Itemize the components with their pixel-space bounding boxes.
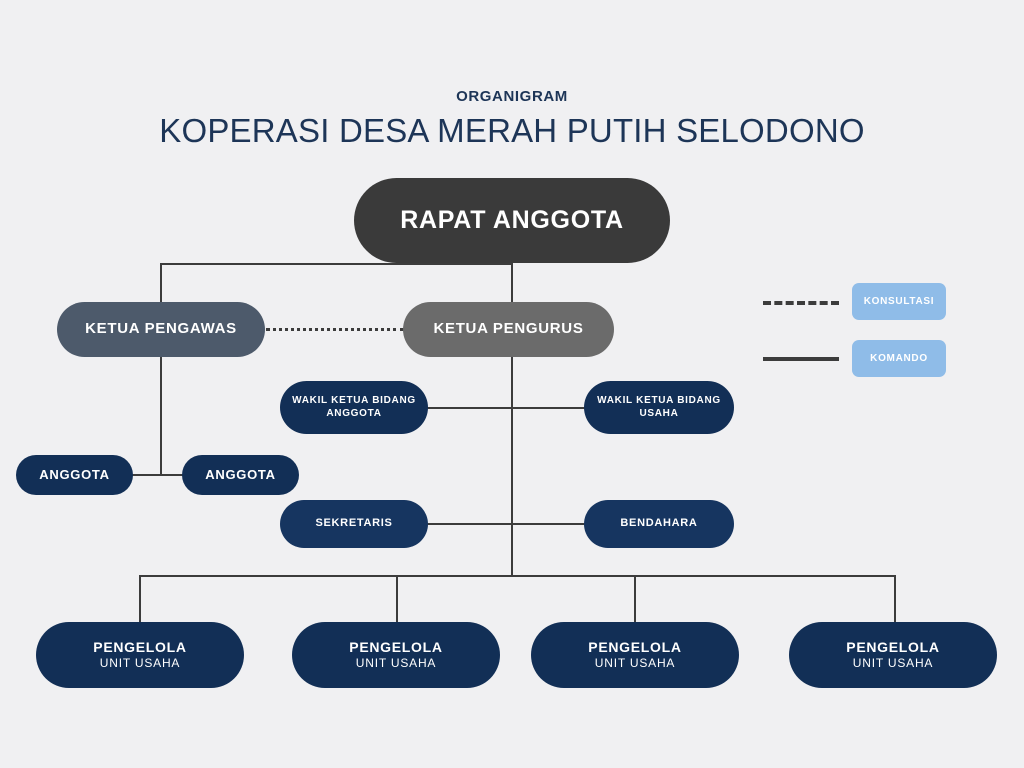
connector-bendahara	[511, 523, 588, 525]
node-label-line2: USAHA	[639, 408, 678, 421]
node-sekretaris[interactable]: SEKRETARIS	[280, 500, 428, 548]
node-label: ANGGOTA	[205, 467, 275, 483]
node-anggota-2[interactable]: ANGGOTA	[182, 455, 299, 495]
connector-wakil-anggota	[424, 407, 512, 409]
legend-konsultasi[interactable]: KONSULTASI	[852, 283, 946, 320]
connector-wakil-usaha	[511, 407, 588, 409]
node-label: KETUA PENGURUS	[433, 320, 583, 339]
legend-dashed-line-icon	[763, 301, 839, 305]
node-label-line2: UNIT USAHA	[853, 656, 933, 671]
node-ketua-pengawas[interactable]: KETUA PENGAWAS	[57, 302, 265, 357]
node-label-line1: WAKIL KETUA BIDANG	[597, 395, 721, 408]
connector-pengelola-drop-3	[634, 575, 636, 622]
node-label: KETUA PENGAWAS	[85, 320, 237, 339]
node-pengelola-4[interactable]: PENGELOLA UNIT USAHA	[789, 622, 997, 688]
node-anggota-1[interactable]: ANGGOTA	[16, 455, 133, 495]
node-bendahara[interactable]: BENDAHARA	[584, 500, 734, 548]
page-title: KOPERASI DESA MERAH PUTIH SELODONO	[0, 112, 1024, 150]
connector-pengawas-spine	[160, 353, 162, 475]
node-label: ANGGOTA	[39, 467, 109, 483]
node-pengelola-1[interactable]: PENGELOLA UNIT USAHA	[36, 622, 244, 688]
node-rapat-anggota[interactable]: RAPAT ANGGOTA	[354, 178, 670, 263]
connector-sekretaris	[424, 523, 512, 525]
node-label: RAPAT ANGGOTA	[400, 205, 623, 236]
node-label: BENDAHARA	[620, 517, 697, 531]
connector-pengelola-drop-4	[894, 575, 896, 622]
organigram-canvas: ORGANIGRAM KOPERASI DESA MERAH PUTIH SEL…	[0, 0, 1024, 768]
node-label-line1: WAKIL KETUA BIDANG	[292, 395, 416, 408]
node-label-line1: PENGELOLA	[846, 639, 939, 657]
connector-rapat-branch	[161, 263, 513, 265]
connector-rapat-to-pengawas	[160, 263, 162, 306]
node-label-line2: UNIT USAHA	[356, 656, 436, 671]
node-label-line1: PENGELOLA	[588, 639, 681, 657]
connector-pengelola-drop-1	[139, 575, 141, 622]
chart-eyebrow: ORGANIGRAM	[0, 88, 1024, 105]
connector-rapat-to-pengurus	[511, 263, 513, 306]
node-label-line2: UNIT USAHA	[595, 656, 675, 671]
node-label-line2: ANGGOTA	[326, 408, 381, 421]
connector-konsultasi-dotted	[266, 328, 404, 331]
node-label: SEKRETARIS	[315, 517, 392, 531]
connector-pengurus-spine	[511, 353, 513, 576]
connector-pengelola-drop-2	[396, 575, 398, 622]
legend-label: KOMANDO	[870, 353, 928, 364]
node-label-line1: PENGELOLA	[349, 639, 442, 657]
legend-label: KONSULTASI	[864, 296, 935, 307]
legend-komando[interactable]: KOMANDO	[852, 340, 946, 377]
legend-solid-line-icon	[763, 357, 839, 361]
node-pengelola-2[interactable]: PENGELOLA UNIT USAHA	[292, 622, 500, 688]
node-wakil-ketua-bidang-anggota[interactable]: WAKIL KETUA BIDANG ANGGOTA	[280, 381, 428, 434]
node-pengelola-3[interactable]: PENGELOLA UNIT USAHA	[531, 622, 739, 688]
node-wakil-ketua-bidang-usaha[interactable]: WAKIL KETUA BIDANG USAHA	[584, 381, 734, 434]
node-label-line1: PENGELOLA	[93, 639, 186, 657]
connector-pengelola-bar	[139, 575, 896, 577]
node-label-line2: UNIT USAHA	[100, 656, 180, 671]
node-ketua-pengurus[interactable]: KETUA PENGURUS	[403, 302, 614, 357]
